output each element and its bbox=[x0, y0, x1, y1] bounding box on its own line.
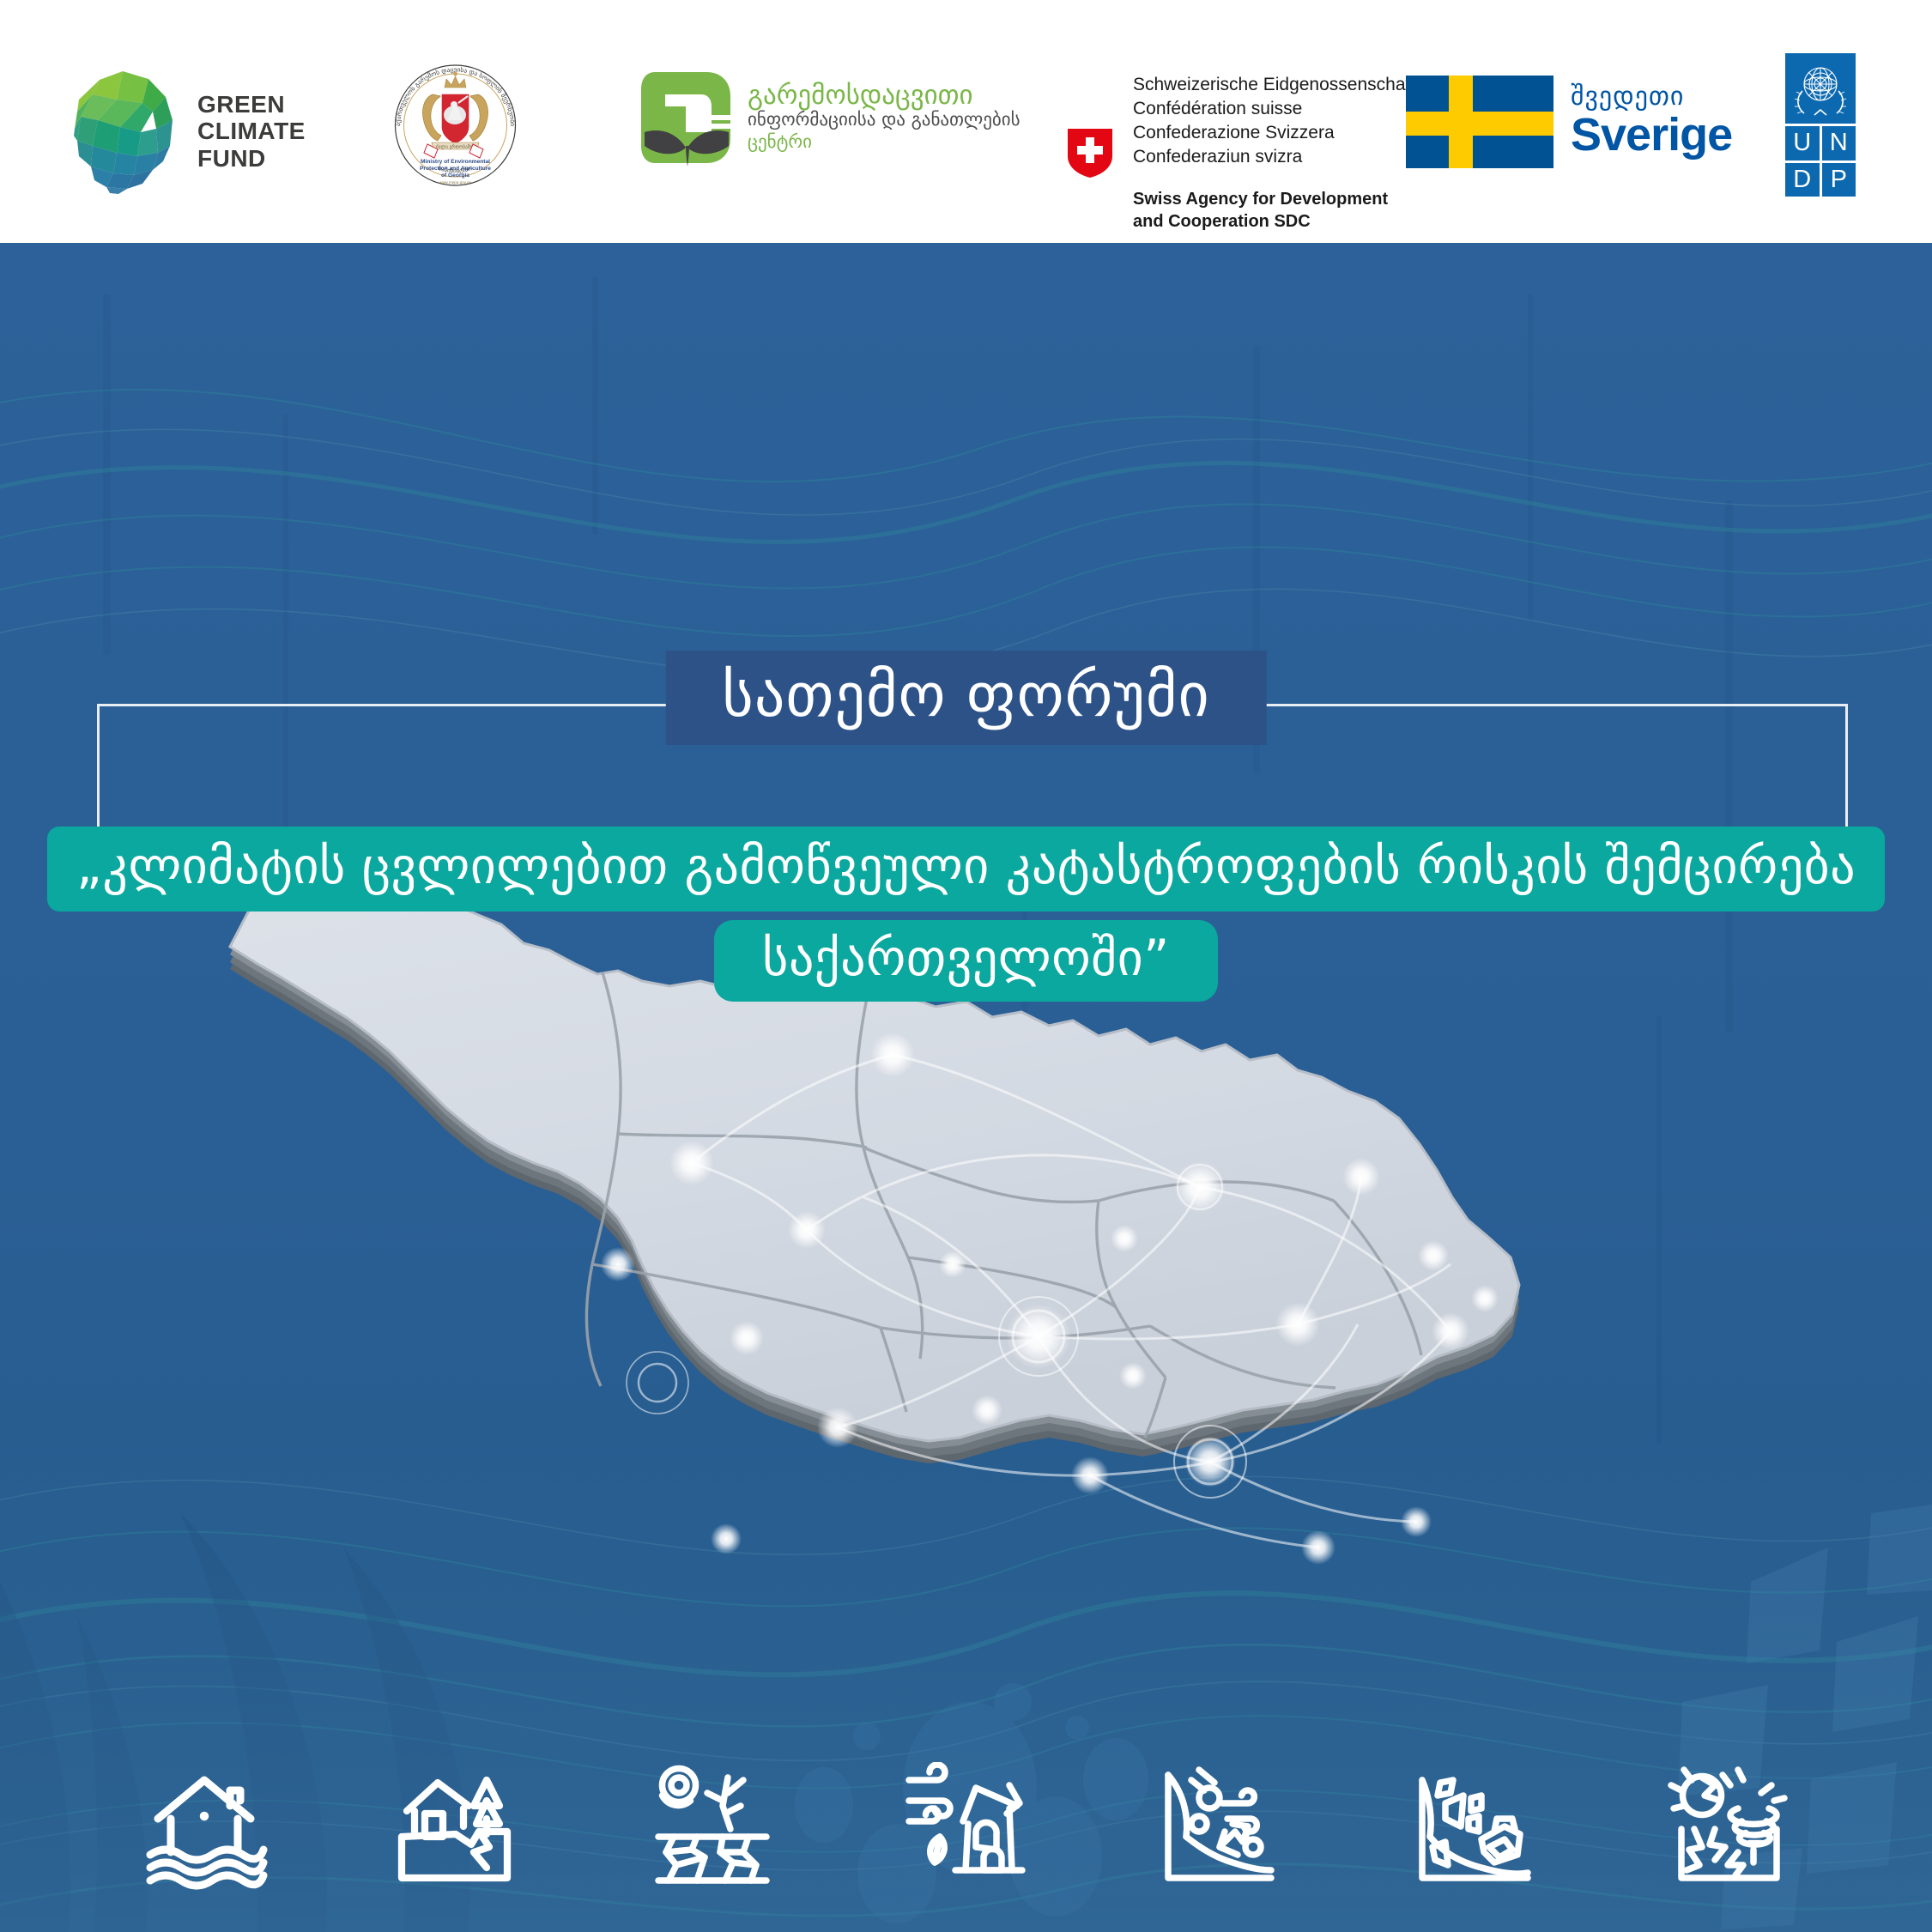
undp-letter-d: D bbox=[1785, 163, 1820, 197]
swiss-lang-rm: Confederaziun svizra bbox=[1133, 145, 1415, 169]
project-title-banner: „კლიმატის ცვლილებით გამოწვეული კატასტროფ… bbox=[0, 827, 1932, 1002]
eyebrow-chip: სათემო ფორუმი bbox=[665, 651, 1266, 745]
sweden-flag-icon bbox=[1406, 76, 1553, 168]
swiss-lang-it: Confederazione Svizzera bbox=[1133, 121, 1415, 145]
logo-undp: U N D P bbox=[1785, 53, 1856, 197]
storm-tornado-icon bbox=[1659, 1758, 1796, 1895]
rockfall-icon bbox=[1405, 1758, 1542, 1895]
svg-text:Ministry of Environmental: Ministry of Environmental bbox=[421, 159, 490, 165]
flood-icon bbox=[136, 1758, 273, 1895]
eyebrow-label: სათემო ფორუმი bbox=[722, 665, 1209, 725]
gcf-wordmark: GREEN CLIMATE FUND bbox=[197, 91, 306, 172]
partner-logo-bar: GREEN CLIMATE FUND საქართველოს გარემოს დ… bbox=[0, 0, 1932, 243]
windstorm-icon bbox=[897, 1758, 1034, 1895]
sweden-label-en: Sverige bbox=[1571, 112, 1732, 159]
swiss-cross-shield-icon bbox=[1066, 127, 1114, 179]
poster-body: სათემო ფორუმი „კლიმატის ცვლილებით გამოწვ… bbox=[0, 243, 1932, 1932]
gcf-sphere-icon bbox=[67, 67, 179, 196]
project-title-line-2: საქართველოში” bbox=[714, 920, 1218, 1002]
eiec-leaf-book-icon bbox=[639, 67, 736, 168]
eiec-wordmark: გარემოსდაცვითი ინფორმაციისა და განათლები… bbox=[748, 82, 1021, 154]
sweden-label-ka: შვედეთი bbox=[1571, 84, 1732, 110]
logo-swiss-confederation-sdc: Schweizerische Eidgenossenschaft Confédé… bbox=[1066, 73, 1415, 233]
svg-text:ძალა ერთობაშია: ძალა ერთობაშია bbox=[436, 144, 475, 150]
svg-text:Protection and Agriculture: Protection and Agriculture bbox=[420, 166, 491, 172]
svg-text:of Georgia: of Georgia bbox=[441, 173, 469, 179]
logo-ministry-of-environment-georgia: საქართველოს გარემოს დაცვისა და სოფლის მე… bbox=[385, 53, 526, 195]
landslide-icon bbox=[390, 1758, 527, 1895]
avalanche-icon bbox=[1151, 1758, 1288, 1895]
sweden-wordmark: შვედეთი Sverige bbox=[1571, 84, 1732, 159]
svg-text:www.mepa.gov.ge: www.mepa.gov.ge bbox=[439, 180, 472, 185]
un-emblem-icon bbox=[1785, 53, 1856, 124]
undp-letter-p: P bbox=[1822, 163, 1856, 197]
swiss-agency-line-1: Swiss Agency for Development bbox=[1133, 188, 1415, 210]
undp-letter-n: N bbox=[1822, 126, 1856, 160]
eiec-line-1: გარემოსდაცვითი bbox=[748, 82, 1021, 110]
logo-sweden-sverige: შვედეთი Sverige bbox=[1406, 76, 1732, 168]
swiss-lang-fr: Confédération suisse bbox=[1133, 97, 1415, 121]
logo-green-climate-fund: GREEN CLIMATE FUND bbox=[67, 67, 306, 196]
eiec-line-3: ცენტრი bbox=[748, 131, 1021, 154]
drought-icon bbox=[644, 1758, 781, 1895]
undp-letter-grid: U N D P bbox=[1785, 126, 1856, 197]
undp-letter-u: U bbox=[1785, 126, 1820, 160]
swiss-wordmark: Schweizerische Eidgenossenschaft Confédé… bbox=[1133, 73, 1415, 233]
ministry-seal-icon: საქართველოს გარემოს დაცვისა და სოფლის მე… bbox=[385, 53, 526, 195]
project-title-line-1: „კლიმატის ცვლილებით გამოწვეული კატასტროფ… bbox=[47, 827, 1885, 911]
swiss-lang-de: Schweizerische Eidgenossenschaft bbox=[1133, 73, 1415, 97]
hazard-icon-row bbox=[0, 1745, 1932, 1908]
logo-environmental-information-education-centre: გარემოსდაცვითი ინფორმაციისა და განათლები… bbox=[639, 67, 1021, 168]
eiec-line-2: ინფორმაციისა და განათლების bbox=[748, 109, 1021, 131]
swiss-agency-line-2: and Cooperation SDC bbox=[1133, 210, 1415, 233]
